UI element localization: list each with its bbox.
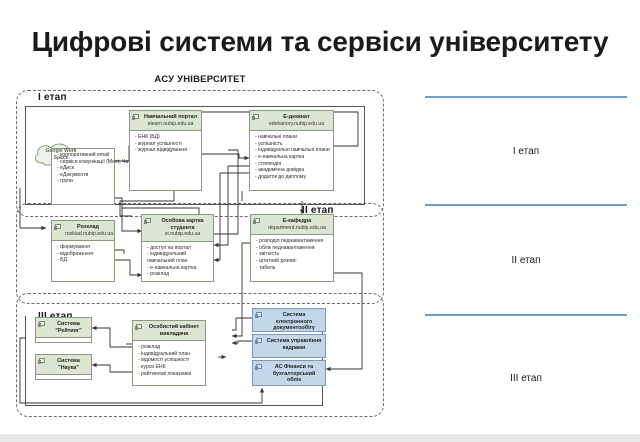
node-hr-system-header: Система управління кадрами: [253, 335, 325, 357]
node-rating-system[interactable]: Система "Рейтинг": [35, 317, 92, 343]
list-item: - табель: [256, 265, 329, 272]
legend-label-stage3: III етап: [425, 373, 627, 384]
node-rozklad[interactable]: Розклад rozklad.nubip.edu.ua - формуванн…: [51, 220, 115, 282]
component-icon: [136, 324, 142, 329]
node-url: department.nubip.edu.ua: [264, 225, 330, 232]
node-e-dekanat-header: Е-деканат edekanory.nubip.edu.ua: [250, 111, 333, 131]
list-item: - розподіл педнавантаження: [256, 238, 329, 245]
node-teacher-cabinet-body: - розклад - індивідуальний план - відомо…: [133, 341, 205, 380]
list-item: - штатний розпис: [256, 258, 329, 265]
node-student-card-header: Особова картка студента st.nubip.edu.ua: [142, 215, 213, 242]
list-item: - групи: [57, 178, 110, 185]
node-e-kafedra-header: Е-кафедра department.nubip.edu.ua: [251, 215, 333, 235]
node-learning-portal[interactable]: Навчальний портал elearn.nubip.edu.ua - …: [129, 110, 202, 191]
node-science-system-header: Система "Наука": [36, 355, 91, 375]
component-icon: [254, 218, 260, 223]
list-item: - розклад: [138, 344, 201, 351]
node-teacher-cabinet-header: Особистий кабінет викладача: [133, 321, 205, 341]
node-title: Розклад: [65, 224, 111, 231]
list-item: - індивідуальний навчальний план: [147, 251, 209, 264]
node-e-dekanat-body: - навчальні плани - успішність - індивід…: [250, 131, 333, 183]
component-icon: [145, 218, 151, 223]
slide-canvas: Цифрові системи та сервіси університету …: [0, 0, 640, 442]
legend-label-stage2: II етап: [425, 255, 627, 266]
node-hr-management-system[interactable]: Система управління кадрами: [252, 334, 326, 358]
list-item: - еДиск: [57, 165, 110, 172]
node-title: Система електронного документообігу: [266, 312, 322, 332]
node-e-dekanat[interactable]: Е-деканат edekanory.nubip.edu.ua - навча…: [249, 110, 334, 191]
list-item: - еДокументи: [57, 172, 110, 179]
list-item: - е-навчальна картка: [255, 154, 329, 161]
node-url: elearn.nubip.edu.ua: [143, 121, 198, 128]
list-item: - звітність: [256, 251, 329, 258]
list-item: - навчальні плани: [255, 134, 329, 141]
asu-architecture-diagram: I етап II етап III етап: [14, 88, 390, 420]
node-title: Система "Наука": [49, 358, 88, 371]
node-finance-system-header: АС Фінанси та бухгалтерський облік: [253, 361, 325, 385]
node-document-flow-system[interactable]: Система електронного документообігу: [252, 308, 326, 332]
legend-label-stage1: I етап: [425, 146, 627, 157]
component-icon: [256, 312, 262, 317]
list-item: - індивідуальний план: [138, 351, 201, 358]
list-item: - академічна довідка: [255, 167, 329, 174]
node-teacher-cabinet[interactable]: Особистий кабінет викладача - розклад - …: [132, 320, 206, 386]
list-item: - е-навчальна картка: [147, 265, 209, 272]
list-item: - БД: [57, 257, 110, 264]
component-icon: [256, 338, 262, 343]
page-title: Цифрові системи та сервіси університету: [0, 26, 640, 58]
legend-divider: [425, 96, 627, 98]
list-item: - журнал успішності: [135, 141, 197, 148]
list-item: - курси ЕНК: [138, 364, 201, 371]
component-icon: [55, 224, 61, 229]
node-title: Е-кафедра: [264, 218, 330, 225]
node-title: Е-деканат: [263, 114, 330, 121]
node-student-card-body: - доступ на портал - індивідуальний навч…: [142, 242, 213, 281]
cloud-label: Google Work Space: [30, 148, 92, 161]
node-student-personal-card[interactable]: Особова картка студента st.nubip.edu.ua …: [141, 214, 214, 282]
node-title: Особова картка студента: [155, 218, 210, 231]
node-title: АС Фінанси та бухгалтерський облік: [266, 364, 322, 384]
list-item: - журнал відвідування: [135, 147, 197, 154]
component-icon: [39, 358, 45, 363]
list-item: - ЕНК (БД): [135, 134, 197, 141]
node-title: Система "Рейтинг": [49, 321, 88, 334]
list-item: - індивідуальні навчальні плани: [255, 147, 329, 154]
list-item: - додаток до диплому: [255, 174, 329, 181]
list-item: - відображення: [57, 251, 110, 258]
node-science-system-body: [36, 375, 91, 395]
component-icon: [256, 364, 262, 369]
node-title: Особистий кабінет викладача: [146, 324, 202, 337]
node-e-kafedra-body: - розподіл педнавантаження - облік педна…: [251, 235, 333, 274]
component-icon: [133, 114, 139, 119]
list-item: - успішність: [255, 141, 329, 148]
component-icon: [39, 321, 45, 326]
stage-legend-panel: I етап II етап III етап: [400, 88, 640, 420]
bottom-strip: [0, 434, 640, 442]
node-rozklad-body: - формування - відображення - БД: [52, 241, 114, 267]
node-learning-portal-header: Навчальний портал elearn.nubip.edu.ua: [130, 111, 201, 131]
list-item: - відомості успішності: [138, 357, 201, 364]
node-url: rozklad.nubip.edu.ua: [65, 231, 111, 238]
legend-divider: [425, 204, 627, 206]
node-finance-accounting-system[interactable]: АС Фінанси та бухгалтерський облік: [252, 360, 326, 386]
component-icon: [253, 114, 259, 119]
node-document-flow-header: Система електронного документообігу: [253, 309, 325, 331]
list-item: - формування: [57, 244, 110, 251]
node-rozklad-header: Розклад rozklad.nubip.edu.ua: [52, 221, 114, 241]
diagram-subtitle: АСУ УНІВЕРСИТЕТ: [0, 74, 400, 85]
node-e-kafedra[interactable]: Е-кафедра department.nubip.edu.ua - розп…: [250, 214, 334, 282]
list-item: - розклад: [147, 271, 209, 278]
list-item: - стипендія: [255, 161, 329, 168]
list-item: - облік педнавантаження: [256, 245, 329, 252]
node-learning-portal-body: - ЕНК (БД) - журнал успішності - журнал …: [130, 131, 201, 157]
node-url: st.nubip.edu.ua: [155, 231, 210, 238]
node-science-system[interactable]: Система "Наука": [35, 354, 92, 380]
node-rating-system-header: Система "Рейтинг": [36, 318, 91, 338]
legend-divider: [425, 314, 627, 316]
node-title: Навчальний портал: [143, 114, 198, 121]
list-item: - рейтингові показники: [138, 371, 201, 378]
node-url: edekanory.nubip.edu.ua: [263, 121, 330, 128]
node-title: Система управління кадрами: [266, 338, 322, 351]
